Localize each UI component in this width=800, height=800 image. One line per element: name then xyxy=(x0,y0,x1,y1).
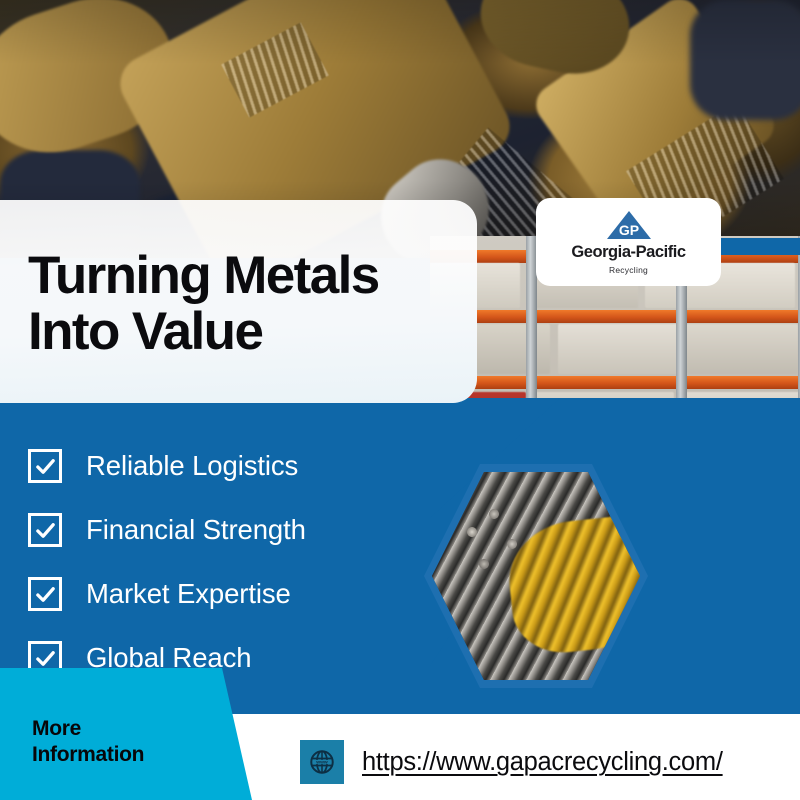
headline-line-1: Turning Metals xyxy=(28,248,379,304)
gp-triangle-logo-icon: GP xyxy=(606,210,652,240)
headline-panel: Turning Metals Into Value xyxy=(0,200,477,403)
checkmark-icon xyxy=(28,577,62,611)
marketing-poster: Turning Metals Into Value GP Georgia-Pac… xyxy=(0,0,800,800)
benefits-checklist: Reliable Logistics Financial Strength Ma… xyxy=(28,434,306,690)
more-information-cta: More Information xyxy=(32,716,144,767)
cta-line-1: More xyxy=(32,716,144,742)
list-item: Financial Strength xyxy=(28,498,306,562)
page-title: Turning Metals Into Value xyxy=(28,248,379,360)
svg-text:www: www xyxy=(315,761,328,766)
checkmark-icon xyxy=(28,449,62,483)
list-item: Market Expertise xyxy=(28,562,306,626)
list-item: Reliable Logistics xyxy=(28,434,306,498)
rebar-photo xyxy=(432,472,640,680)
checklist-label: Reliable Logistics xyxy=(86,450,298,482)
logo-subtext: Recycling xyxy=(609,265,648,275)
website-url-link[interactable]: https://www.gapacrecycling.com/ xyxy=(362,748,723,777)
checkmark-icon xyxy=(28,513,62,547)
headline-line-2: Into Value xyxy=(28,304,379,360)
checklist-label: Market Expertise xyxy=(86,578,291,610)
brand-logo-card: GP Georgia-Pacific Recycling xyxy=(536,198,721,286)
top-right-accent-bar xyxy=(716,238,800,255)
globe-glyph: www xyxy=(308,748,336,776)
checklist-label: Financial Strength xyxy=(86,514,306,546)
logo-wordmark: Georgia-Pacific xyxy=(571,243,685,262)
svg-text:GP: GP xyxy=(618,222,638,238)
cta-line-2: Information xyxy=(32,742,144,768)
globe-www-icon: www xyxy=(300,740,344,784)
